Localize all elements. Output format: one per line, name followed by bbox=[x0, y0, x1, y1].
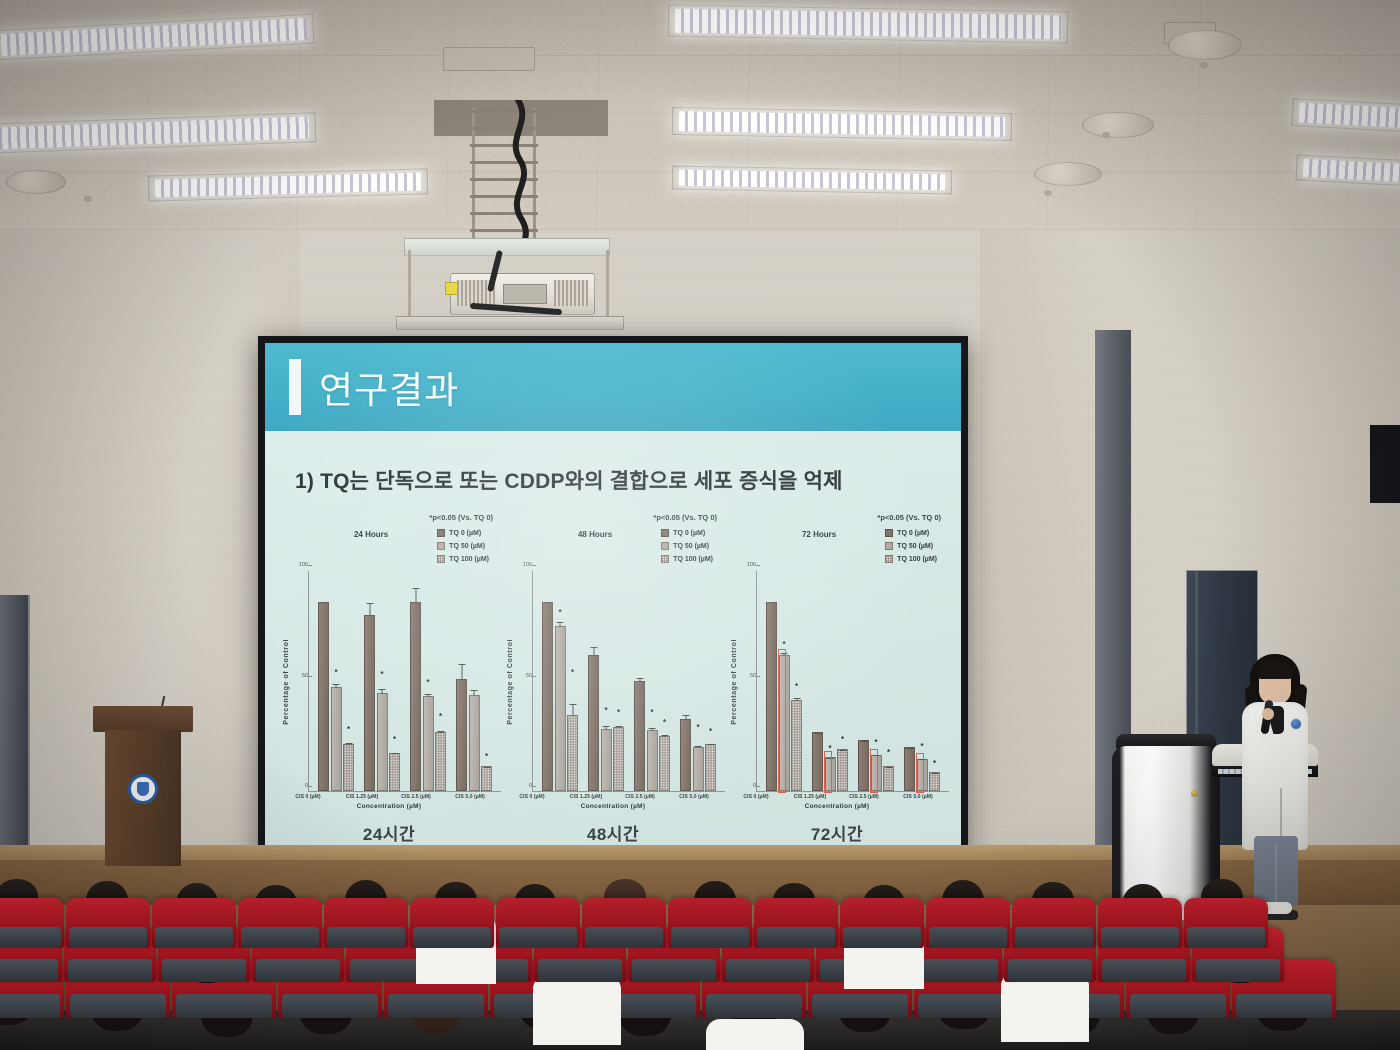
significance-marker: * bbox=[782, 641, 785, 649]
bar-slot: * bbox=[555, 571, 566, 791]
error-bar bbox=[922, 759, 923, 760]
charts-row: *p<0.05 (Vs. TQ 0) 24 Hours TQ 0 (µM) TQ… bbox=[265, 495, 961, 814]
error-bar bbox=[888, 767, 889, 768]
caption-72h: 72시간 bbox=[725, 820, 949, 845]
bar bbox=[858, 740, 869, 791]
x-tick-label: CIS 5.0 (µM) bbox=[443, 794, 497, 800]
bar-slot: * bbox=[837, 571, 848, 791]
projector-mount-plate bbox=[404, 238, 610, 256]
error-bar bbox=[560, 622, 561, 628]
bar bbox=[331, 687, 342, 791]
legend-swatch-tq100 bbox=[661, 555, 669, 563]
auditorium-seat bbox=[582, 898, 666, 948]
x-axis-label: Concentration (µM) bbox=[725, 803, 949, 810]
auditorium-seat bbox=[152, 898, 236, 948]
x-tick-label: CIS 1.25 (µM) bbox=[335, 794, 389, 800]
x-tick-label: CIS 1.25 (µM) bbox=[783, 794, 837, 800]
legend-swatch-tq100 bbox=[885, 555, 893, 563]
presenter bbox=[1236, 650, 1314, 920]
error-bar bbox=[428, 694, 429, 697]
bar bbox=[542, 602, 553, 791]
bar bbox=[364, 615, 375, 791]
bar bbox=[766, 602, 777, 791]
ceiling-dome-light-icon bbox=[6, 170, 66, 194]
error-bar bbox=[698, 746, 699, 748]
bar-group: ** bbox=[899, 571, 945, 791]
error-bar bbox=[336, 684, 337, 688]
bar-group: ** bbox=[405, 571, 451, 791]
auditorium-seat bbox=[1012, 898, 1096, 948]
significance-marker: * bbox=[920, 743, 923, 751]
slide: 연구결과 1) TQ는 단독으로 또는 CDDP와의 결합으로 세포 증식을 억… bbox=[265, 343, 961, 859]
legend-swatch-tq0 bbox=[437, 529, 445, 537]
legend-label: TQ 100 (µM) bbox=[897, 556, 937, 563]
error-bar bbox=[652, 728, 653, 731]
bar bbox=[423, 696, 434, 791]
auditorium-seat bbox=[668, 898, 752, 948]
bar-slot bbox=[680, 571, 691, 791]
bar-slot: * bbox=[917, 571, 928, 791]
projector-cable-icon bbox=[498, 100, 542, 250]
bar bbox=[469, 695, 480, 791]
bar-slot: * bbox=[871, 571, 882, 791]
significance-marker: * bbox=[558, 609, 561, 617]
bar-slot: * bbox=[389, 571, 400, 791]
significance-marker: * bbox=[663, 719, 666, 727]
bar bbox=[917, 759, 928, 791]
projection-screen: 연구결과 1) TQ는 단독으로 또는 CDDP와의 결합으로 세포 증식을 억… bbox=[258, 336, 968, 866]
bar bbox=[812, 732, 823, 791]
sprinkler-icon bbox=[1200, 62, 1208, 67]
sprinkler-icon bbox=[84, 196, 92, 201]
university-crest-icon bbox=[128, 774, 158, 804]
bar-slot: * bbox=[377, 571, 388, 791]
error-bar bbox=[348, 743, 349, 745]
error-bar bbox=[618, 726, 619, 728]
bar bbox=[779, 655, 790, 791]
error-bar bbox=[572, 704, 573, 716]
wall-panel bbox=[1370, 425, 1400, 503]
error-bar bbox=[685, 715, 686, 720]
bar-group: ** bbox=[853, 571, 899, 791]
significance-marker: * bbox=[795, 683, 798, 691]
x-tick-label: CIS 5.0 (µM) bbox=[891, 794, 945, 800]
bar bbox=[791, 700, 802, 791]
x-axis-ticks: CIS 0 (µM)CIS 1.25 (µM)CIS 2.5 (µM)CIS 5… bbox=[501, 792, 725, 800]
error-bar bbox=[474, 690, 475, 696]
y-tick-label: 100 bbox=[747, 562, 756, 568]
bar bbox=[647, 730, 658, 791]
plot-area: ******** bbox=[532, 571, 725, 792]
x-tick-label: CIS 0 (µM) bbox=[281, 794, 335, 800]
chart-24h: *p<0.05 (Vs. TQ 0) 24 Hours TQ 0 (µM) TQ… bbox=[277, 513, 501, 810]
lectern-top bbox=[93, 706, 193, 732]
significance-marker: * bbox=[571, 669, 574, 677]
sprinkler-icon bbox=[1102, 132, 1110, 137]
sprinkler-icon bbox=[1044, 190, 1052, 195]
bar-slot bbox=[588, 571, 599, 791]
bar-slot bbox=[766, 571, 777, 791]
significance-marker: * bbox=[709, 728, 712, 736]
bar-slot bbox=[904, 571, 915, 791]
x-tick-label: CIS 5.0 (µM) bbox=[667, 794, 721, 800]
bar bbox=[634, 681, 645, 791]
error-bar bbox=[876, 755, 877, 756]
auditorium-seat bbox=[926, 898, 1010, 948]
left-door[interactable] bbox=[0, 595, 30, 857]
bar-slot: * bbox=[567, 571, 578, 791]
y-tick-label: 100 bbox=[523, 562, 532, 568]
header-accent-bar bbox=[289, 359, 301, 415]
bar-slot bbox=[364, 571, 375, 791]
bar-group: ** bbox=[359, 571, 405, 791]
y-axis-label: Percentage of Control bbox=[731, 639, 738, 725]
significance-marker: * bbox=[933, 760, 936, 768]
bar bbox=[377, 693, 388, 791]
bar-group: ** bbox=[537, 571, 583, 791]
significance-marker: * bbox=[874, 739, 877, 747]
legend-swatch-tq50 bbox=[437, 542, 445, 550]
significance-marker: * bbox=[393, 736, 396, 744]
error-bar bbox=[842, 750, 843, 751]
power-indicator-icon bbox=[1191, 790, 1198, 797]
y-axis-ticks: 050100 bbox=[516, 571, 532, 792]
x-tick-label: CIS 2.5 (µM) bbox=[613, 794, 667, 800]
ceiling-dome-light-icon bbox=[1082, 112, 1154, 138]
auditorium-scene: 연구결과 1) TQ는 단독으로 또는 CDDP와의 결합으로 세포 증식을 억… bbox=[0, 0, 1400, 1050]
bar bbox=[481, 766, 492, 791]
bar bbox=[456, 679, 467, 791]
bar bbox=[601, 729, 612, 791]
bar bbox=[613, 727, 624, 791]
bar bbox=[659, 736, 670, 791]
significance-marker: * bbox=[617, 709, 620, 717]
bar-slot: * bbox=[705, 571, 716, 791]
bar bbox=[837, 749, 848, 791]
page-title: 연구결과 bbox=[319, 360, 459, 414]
bar bbox=[389, 753, 400, 791]
legend-swatch-tq100 bbox=[437, 555, 445, 563]
bar bbox=[588, 655, 599, 791]
legend-swatch-tq50 bbox=[885, 542, 893, 550]
legend-swatch-tq0 bbox=[885, 529, 893, 537]
bar-slot bbox=[469, 571, 480, 791]
bar bbox=[883, 766, 894, 791]
auditorium-seat bbox=[0, 898, 64, 948]
bar-slot: * bbox=[779, 571, 790, 791]
bar bbox=[343, 744, 354, 791]
significance-marker: * bbox=[380, 671, 383, 679]
chart-legend: TQ 0 (µM) TQ 50 (µM) TQ 100 (µM) bbox=[885, 529, 937, 568]
bar-group: ** bbox=[313, 571, 359, 791]
x-tick-label: CIS 0 (µM) bbox=[505, 794, 559, 800]
y-axis-label: Percentage of Control bbox=[283, 639, 290, 725]
bar-slot: * bbox=[825, 571, 836, 791]
bar-slot bbox=[634, 571, 645, 791]
legend-swatch-tq0 bbox=[661, 529, 669, 537]
plot-area: ******* bbox=[308, 571, 501, 792]
bar bbox=[929, 772, 940, 791]
bar bbox=[705, 744, 716, 791]
bar bbox=[435, 732, 446, 791]
bar-slot bbox=[410, 571, 421, 791]
bar-slot: * bbox=[613, 571, 624, 791]
chart-72h: *p<0.05 (Vs. TQ 0) 72 Hours TQ 0 (µM) TQ… bbox=[725, 513, 949, 810]
bar-slot: * bbox=[659, 571, 670, 791]
significance-marker: * bbox=[841, 736, 844, 744]
chart-title: 72 Hours bbox=[802, 530, 836, 539]
plot-area: ******** bbox=[756, 571, 949, 792]
legend-label: TQ 100 (µM) bbox=[673, 556, 713, 563]
legend-label: TQ 0 (µM) bbox=[897, 530, 929, 537]
error-bar bbox=[796, 698, 797, 701]
legend-label: TQ 0 (µM) bbox=[449, 530, 481, 537]
bar-slot bbox=[858, 571, 869, 791]
bar-group: ** bbox=[761, 571, 807, 791]
significance-marker: * bbox=[887, 749, 890, 757]
projector-tray bbox=[396, 316, 624, 330]
significance-marker: * bbox=[828, 745, 831, 753]
slide-subtitle: 1) TQ는 단독으로 또는 CDDP와의 결합으로 세포 증식을 억제 bbox=[295, 465, 961, 495]
bar bbox=[680, 719, 691, 791]
legend-label: TQ 100 (µM) bbox=[449, 556, 489, 563]
error-bar bbox=[440, 731, 441, 733]
bar-slot: * bbox=[343, 571, 354, 791]
bar-slot: * bbox=[481, 571, 492, 791]
error-bar bbox=[593, 647, 594, 656]
bar bbox=[555, 626, 566, 791]
auditorium-seat bbox=[840, 898, 924, 948]
error-bar bbox=[606, 726, 607, 729]
slide-header: 연구결과 bbox=[265, 343, 961, 431]
bar-group: * bbox=[451, 571, 497, 791]
auditorium-seat bbox=[324, 898, 408, 948]
bar-slot: * bbox=[647, 571, 658, 791]
error-bar bbox=[461, 664, 462, 680]
error-bar bbox=[664, 735, 665, 737]
pvalue-annotation: *p<0.05 (Vs. TQ 0) bbox=[877, 513, 941, 522]
significance-marker: * bbox=[696, 724, 699, 732]
ceiling-dome-light-icon bbox=[1034, 162, 1102, 186]
y-axis-label: Percentage of Control bbox=[507, 639, 514, 725]
bar-slot bbox=[318, 571, 329, 791]
bar-slot: * bbox=[791, 571, 802, 791]
caption-24h: 24시간 bbox=[277, 820, 501, 845]
x-axis-label: Concentration (µM) bbox=[277, 803, 501, 810]
bar bbox=[318, 602, 329, 791]
bar bbox=[904, 747, 915, 791]
bar-slot: * bbox=[423, 571, 434, 791]
ceiling-vent-icon bbox=[443, 47, 535, 71]
ceiling-dome-light-icon bbox=[1168, 30, 1242, 60]
bar-slot: * bbox=[601, 571, 612, 791]
significance-marker: * bbox=[604, 707, 607, 715]
x-tick-label: CIS 2.5 (µM) bbox=[837, 794, 891, 800]
chart-legend: TQ 0 (µM) TQ 50 (µM) TQ 100 (µM) bbox=[437, 529, 489, 568]
ceiling-light-icon bbox=[672, 166, 952, 195]
legend-label: TQ 50 (µM) bbox=[449, 543, 485, 550]
auditorium-seat bbox=[66, 898, 150, 948]
bar bbox=[567, 715, 578, 791]
x-axis-ticks: CIS 0 (µM)CIS 1.25 (µM)CIS 2.5 (µM)CIS 5… bbox=[277, 792, 501, 800]
x-axis-label: Concentration (µM) bbox=[501, 803, 725, 810]
error-bar bbox=[394, 753, 395, 754]
significance-marker: * bbox=[650, 709, 653, 717]
legend-label: TQ 50 (µM) bbox=[897, 543, 933, 550]
significance-marker: * bbox=[426, 679, 429, 687]
x-tick-label: CIS 1.25 (µM) bbox=[559, 794, 613, 800]
pvalue-annotation: *p<0.05 (Vs. TQ 0) bbox=[429, 513, 493, 522]
auditorium-seat bbox=[238, 898, 322, 948]
significance-marker: * bbox=[347, 726, 350, 734]
bar bbox=[693, 747, 704, 791]
wooden-lectern bbox=[100, 706, 186, 866]
bar-slot bbox=[456, 571, 467, 791]
bar-group: ** bbox=[629, 571, 675, 791]
bar-group: ** bbox=[583, 571, 629, 791]
bar-slot: * bbox=[435, 571, 446, 791]
bar-slot bbox=[812, 571, 823, 791]
y-axis-ticks: 050100 bbox=[740, 571, 756, 792]
ceiling-light-icon bbox=[672, 107, 1012, 141]
error-bar bbox=[382, 689, 383, 694]
caption-48h: 48시간 bbox=[501, 820, 725, 845]
error-bar bbox=[784, 653, 785, 655]
chart-title: 24 Hours bbox=[354, 530, 388, 539]
auditorium-seat bbox=[1098, 898, 1182, 948]
chart-legend: TQ 0 (µM) TQ 50 (µM) TQ 100 (µM) bbox=[661, 529, 713, 568]
y-tick-label: 100 bbox=[299, 562, 308, 568]
pvalue-annotation: *p<0.05 (Vs. TQ 0) bbox=[653, 513, 717, 522]
chart-48h: *p<0.05 (Vs. TQ 0) 48 Hours TQ 0 (µM) TQ… bbox=[501, 513, 725, 810]
bar bbox=[825, 757, 836, 791]
bar-group: ** bbox=[807, 571, 853, 791]
error-bar bbox=[639, 678, 640, 683]
bar-slot: * bbox=[883, 571, 894, 791]
significance-marker: * bbox=[485, 753, 488, 761]
bar-slot: * bbox=[929, 571, 940, 791]
x-axis-ticks: CIS 0 (µM)CIS 1.25 (µM)CIS 2.5 (µM)CIS 5… bbox=[725, 792, 949, 800]
lectern-body bbox=[105, 730, 181, 866]
legend-label: TQ 0 (µM) bbox=[673, 530, 705, 537]
significance-marker: * bbox=[334, 669, 337, 677]
y-axis-ticks: 050100 bbox=[292, 571, 308, 792]
auditorium-seat bbox=[754, 898, 838, 948]
lab-coat-badge-icon bbox=[1290, 718, 1302, 730]
error-bar bbox=[710, 744, 711, 745]
x-tick-label: CIS 2.5 (µM) bbox=[389, 794, 443, 800]
error-bar bbox=[415, 588, 416, 602]
bar bbox=[410, 602, 421, 791]
x-tick-label: CIS 0 (µM) bbox=[729, 794, 783, 800]
significance-marker: * bbox=[439, 713, 442, 721]
chart-title: 48 Hours bbox=[578, 530, 612, 539]
bar-slot: * bbox=[331, 571, 342, 791]
auditorium-seat bbox=[410, 898, 494, 948]
mount-post bbox=[606, 250, 609, 322]
legend-label: TQ 50 (µM) bbox=[673, 543, 709, 550]
bar-slot: * bbox=[693, 571, 704, 791]
auditorium-seat bbox=[496, 898, 580, 948]
bar-slot bbox=[542, 571, 553, 791]
legend-swatch-tq50 bbox=[661, 542, 669, 550]
mount-post bbox=[408, 250, 411, 322]
error-bar bbox=[369, 603, 370, 616]
bar bbox=[871, 755, 882, 791]
auditorium-seat bbox=[1184, 898, 1268, 948]
bar-group: ** bbox=[675, 571, 721, 791]
